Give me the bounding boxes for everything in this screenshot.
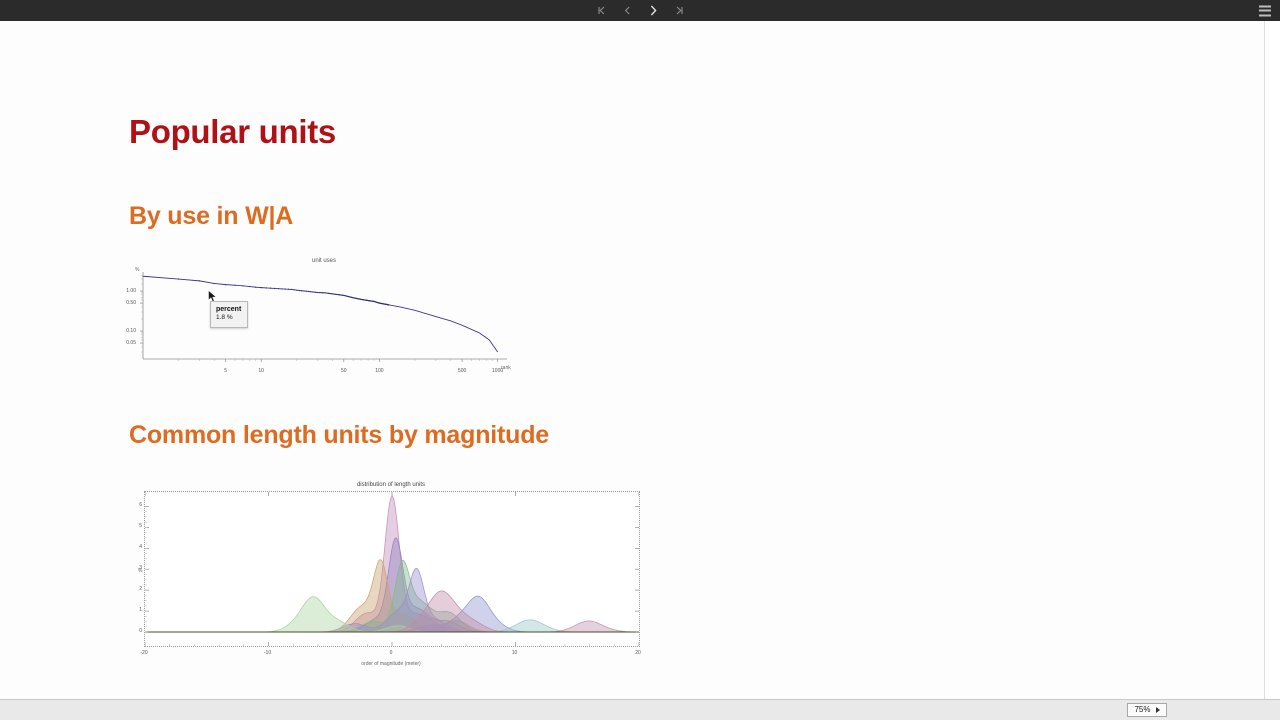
x-tick-label: 0 — [379, 650, 403, 656]
x-tick-label: 10 — [251, 368, 271, 374]
x-tick-label: 50 — [334, 368, 354, 374]
chevron-right-icon — [1156, 707, 1160, 713]
x-axis-ticks — [179, 359, 498, 362]
hamburger-menu-icon[interactable] — [1259, 5, 1271, 16]
menu-line — [1259, 5, 1271, 7]
chart-distribution-of-length-units: distribution of length units % order of … — [138, 480, 644, 672]
chart-y-axis-label: % — [135, 267, 139, 273]
chart-title: unit uses — [129, 258, 519, 264]
x-tick-label: 10 — [503, 650, 527, 656]
section-heading-by-use: By use in W|A — [129, 202, 293, 231]
y-tick-label: 0.05 — [120, 340, 136, 346]
x-tick-label: 1000 — [488, 368, 508, 374]
section-heading-common-length-units: Common length units by magnitude — [129, 421, 549, 450]
y-tick-label: 1 — [130, 607, 142, 613]
x-tick-label: 100 — [369, 368, 389, 374]
last-arrow-icon — [675, 6, 684, 15]
y-tick-label: 2 — [130, 586, 142, 592]
y-tick-label: 0.50 — [120, 300, 136, 306]
y-tick-label: 1.00 — [120, 288, 136, 294]
chart-plot-frame — [144, 491, 640, 647]
chart-x-axis-label: order of magnitude (meter) — [138, 661, 644, 667]
last-slide-button[interactable] — [672, 3, 687, 18]
first-arrow-icon — [597, 6, 606, 15]
zoom-level-value: 75% — [1134, 706, 1150, 714]
chevron-left-icon — [623, 6, 632, 15]
menu-line — [1259, 10, 1271, 12]
mouse-cursor-icon — [208, 290, 217, 303]
chart-plot-area — [129, 258, 519, 380]
chart-stems — [143, 276, 498, 359]
canvas-right-gutter — [1265, 21, 1280, 699]
chevron-right-icon — [648, 5, 659, 16]
y-tick-label: 5 — [130, 523, 142, 529]
y-tick-label: 6 — [130, 502, 142, 508]
chart-title: distribution of length units — [138, 482, 644, 488]
density-curves — [145, 496, 639, 632]
x-tick-label: -20 — [132, 650, 156, 656]
y-tick-label: 0 — [130, 628, 142, 634]
slide-navigation — [594, 3, 687, 18]
tooltip-title: percent — [216, 305, 241, 314]
status-bar: 75% — [0, 699, 1280, 720]
tooltip-value: 1.8 % — [216, 314, 241, 323]
x-tick-label: -10 — [256, 650, 280, 656]
previous-slide-button[interactable] — [620, 3, 635, 18]
next-slide-button[interactable] — [646, 3, 661, 18]
x-tick-label: 500 — [452, 368, 472, 374]
first-slide-button[interactable] — [594, 3, 609, 18]
y-tick-label: 4 — [130, 544, 142, 550]
chart-plot-area — [145, 492, 639, 646]
x-tick-label: 20 — [626, 650, 650, 656]
y-axis-ticks — [140, 275, 143, 352]
y-tick-label: 3 — [130, 565, 142, 571]
x-tick-label: 5 — [216, 368, 236, 374]
top-toolbar — [0, 0, 1280, 21]
page-title: Popular units — [129, 113, 336, 151]
chart-tooltip: percent 1.8 % — [210, 301, 248, 328]
y-tick-label: 0.10 — [120, 328, 136, 334]
chart-unit-uses: unit uses % rank 1.000.500.100.05 510501… — [129, 258, 519, 380]
zoom-level-control[interactable]: 75% — [1127, 703, 1167, 717]
menu-line — [1259, 14, 1271, 16]
